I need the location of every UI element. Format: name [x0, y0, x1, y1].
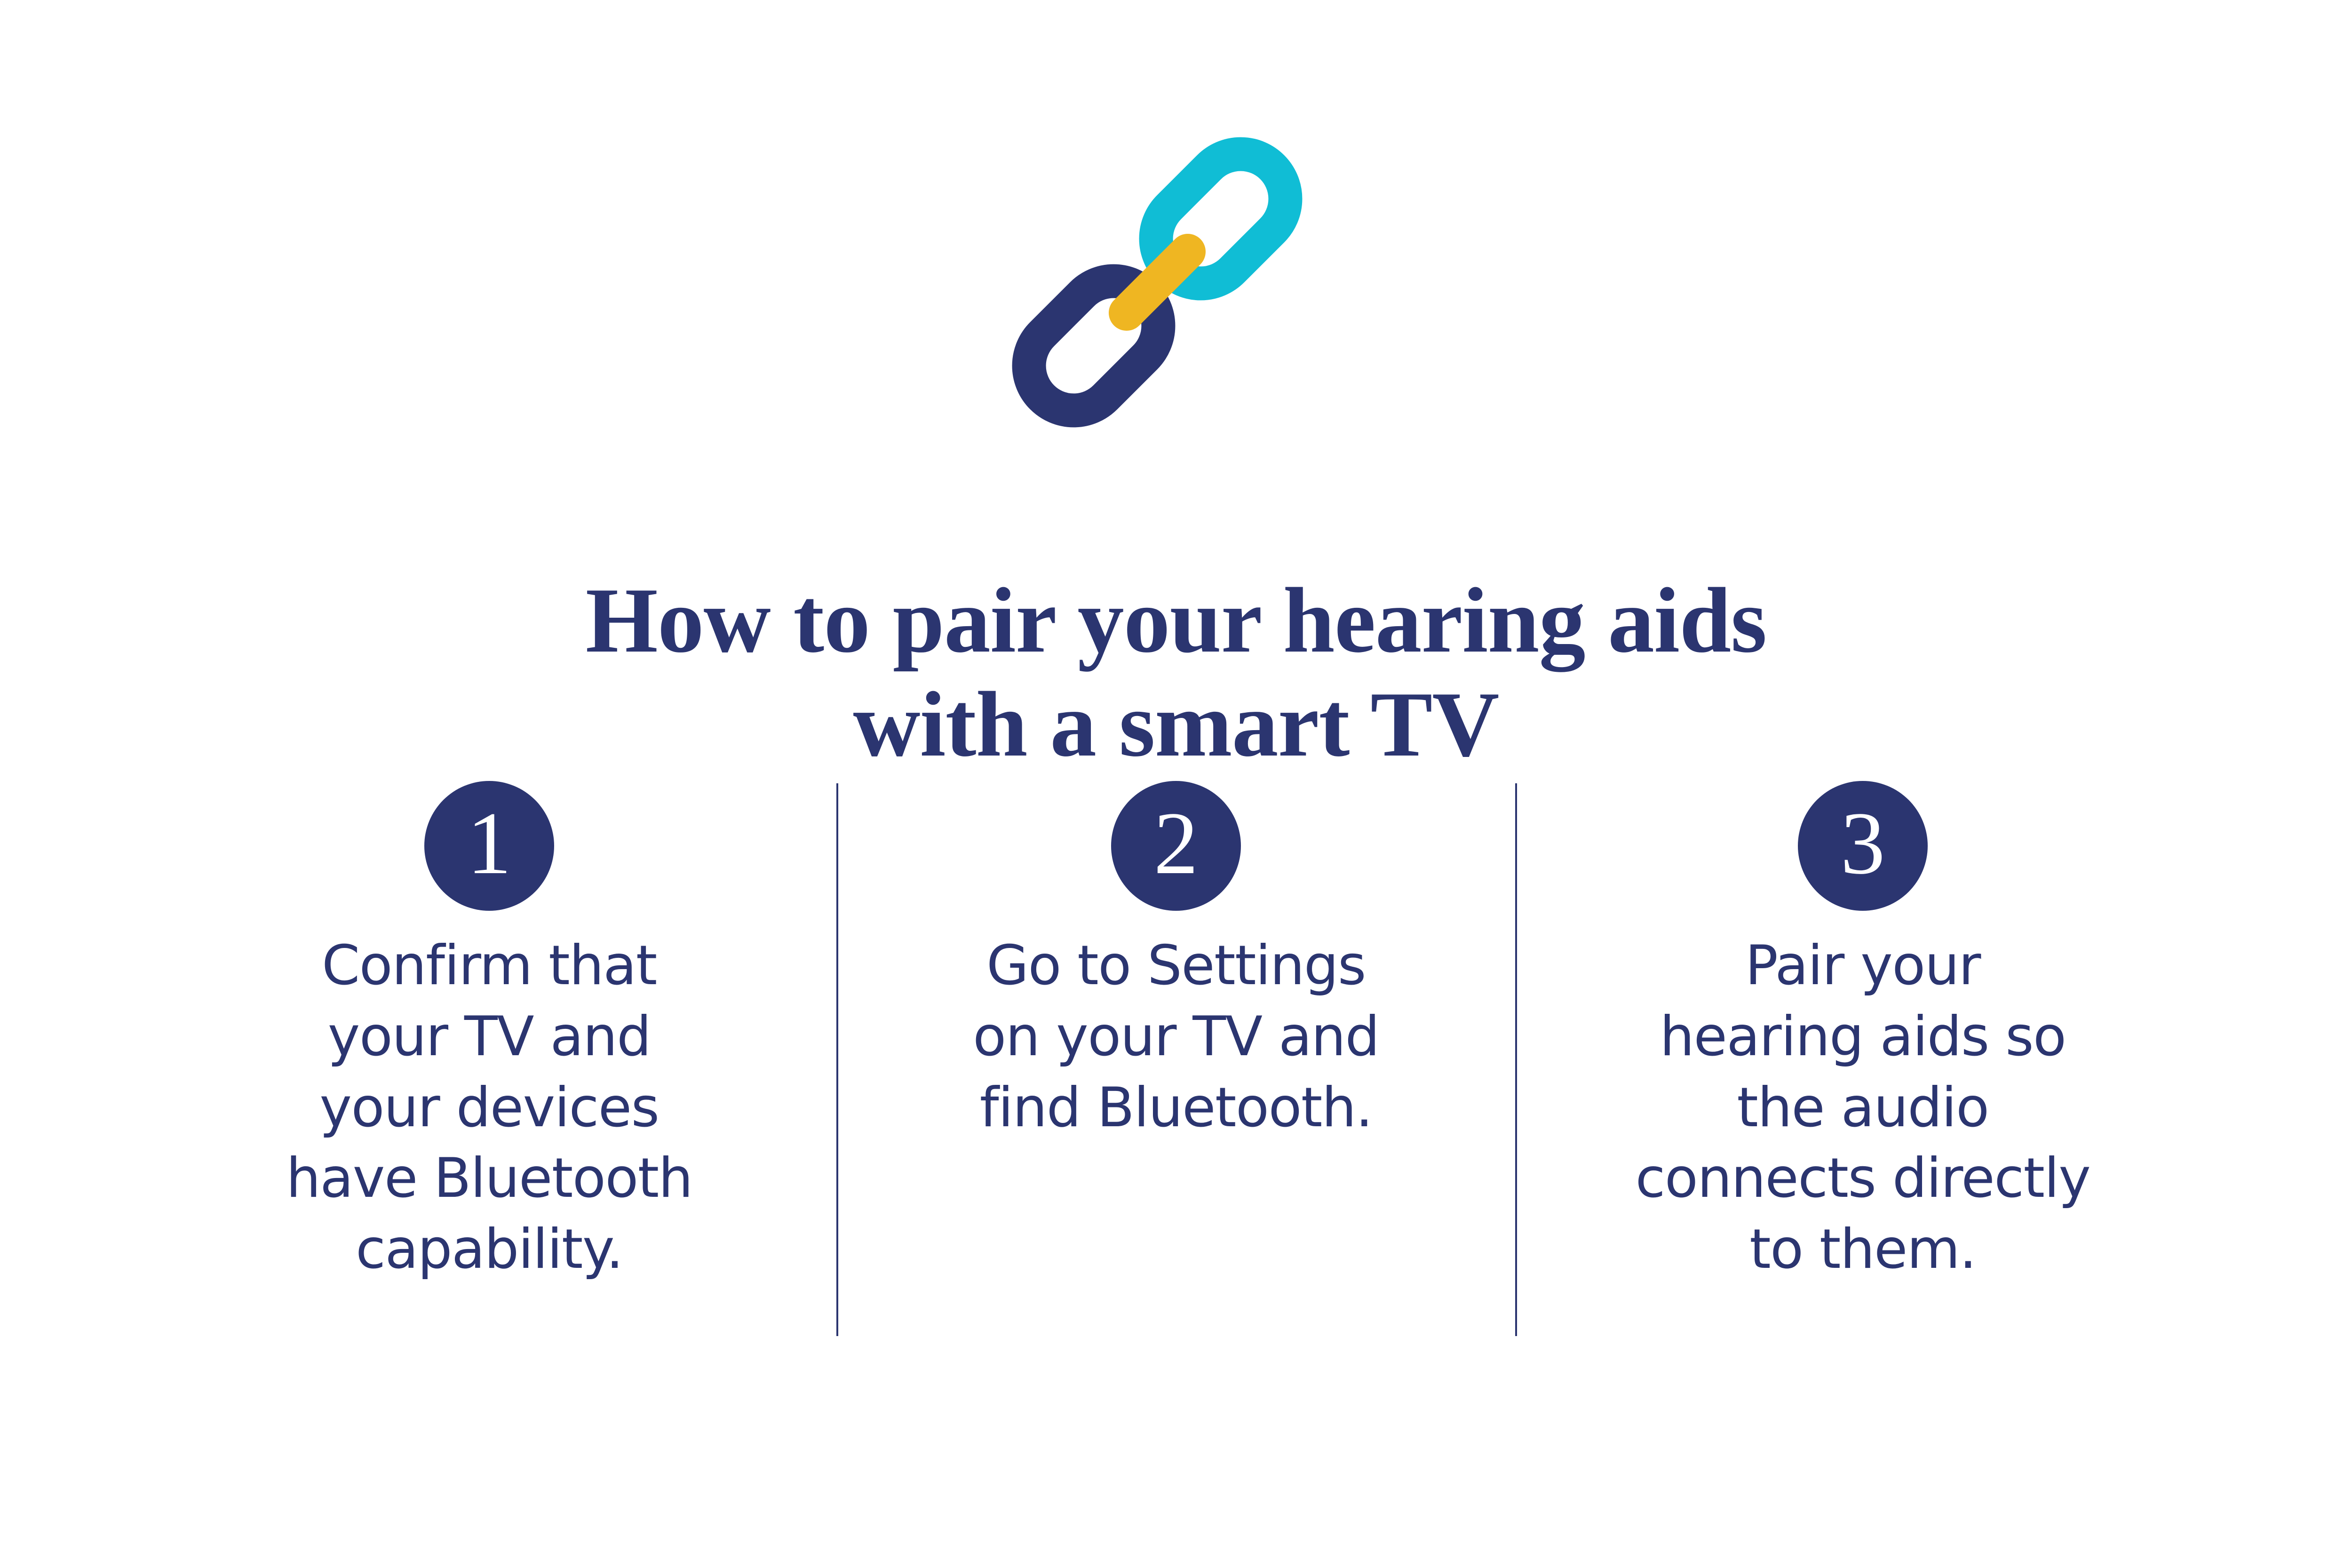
page-title-line-2: with a smart TV	[0, 672, 2352, 777]
step-item-3: 3 Pair your hearing aids so the audio co…	[1534, 781, 2192, 1285]
infographic-page: How to pair your hearing aids with a sma…	[0, 0, 2352, 1568]
step-description-2: Go to Settings on your TV and find Bluet…	[847, 931, 1505, 1143]
yellow-connector-icon	[1127, 252, 1188, 313]
step-number-badge-1: 1	[424, 781, 554, 911]
page-title: How to pair your hearing aids with a sma…	[0, 568, 2352, 777]
step-item-2: 2 Go to Settings on your TV and find Blu…	[847, 781, 1505, 1143]
step-number-badge-3: 3	[1798, 781, 1928, 911]
step-number-badge-2: 2	[1111, 781, 1241, 911]
step-description-1: Confirm that your TV and your devices ha…	[160, 931, 818, 1285]
chain-link-icon	[974, 99, 1341, 466]
page-title-line-1: How to pair your hearing aids	[0, 568, 2352, 673]
step-description-3: Pair your hearing aids so the audio conn…	[1534, 931, 2192, 1285]
step-item-1: 1 Confirm that your TV and your devices …	[160, 781, 818, 1285]
steps-container: 1 Confirm that your TV and your devices …	[160, 781, 2192, 1285]
